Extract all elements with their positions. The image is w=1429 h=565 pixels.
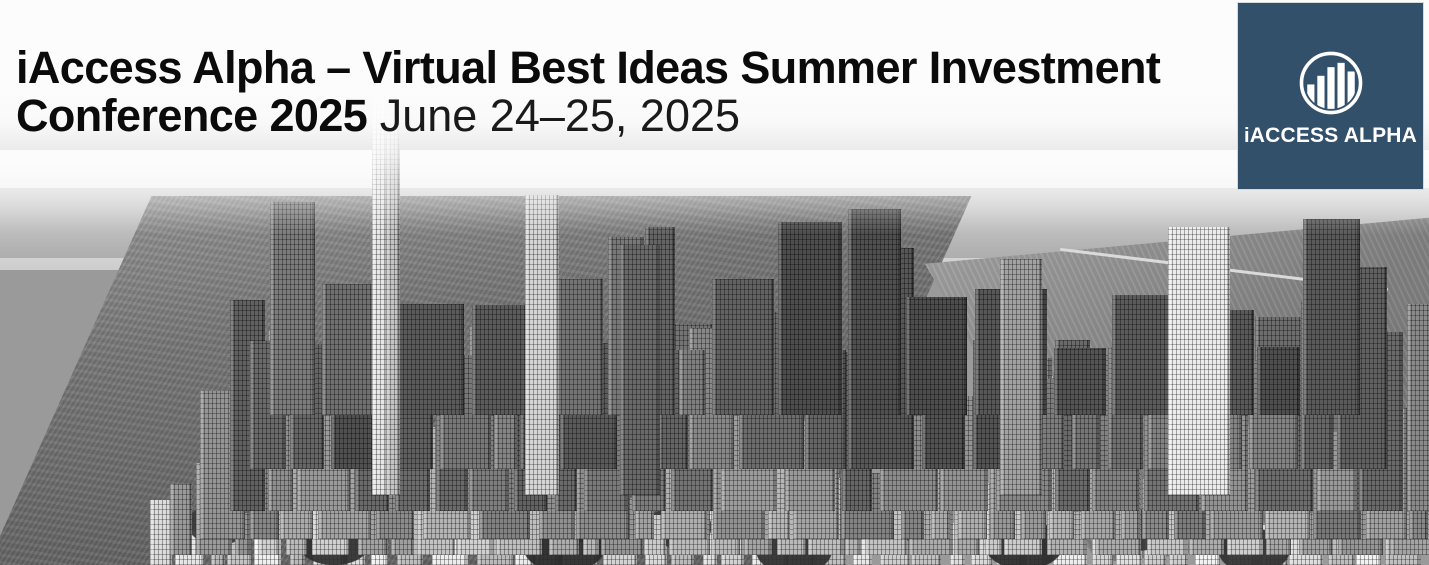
- banner-headline: iAccess Alpha – Virtual Best Ideas Summe…: [16, 44, 1196, 140]
- logo-wordmark: iACCESS ALPHA: [1244, 125, 1417, 146]
- bar-chart-circle-icon: [1295, 47, 1367, 119]
- conference-banner: iAccess Alpha – Virtual Best Ideas Summe…: [0, 0, 1429, 565]
- conference-dates-text: June 24–25, 2025: [380, 90, 740, 141]
- conference-title-part1: iAccess Alpha – Virtual Best Ideas Summe…: [16, 42, 1160, 93]
- conference-dates: June 24–25, 2025: [367, 90, 740, 141]
- headline-line-2: Conference 2025 June 24–25, 2025: [16, 92, 1196, 140]
- iaccess-alpha-logo[interactable]: iACCESS ALPHA: [1237, 2, 1424, 190]
- headline-line-1: iAccess Alpha – Virtual Best Ideas Summe…: [16, 44, 1196, 92]
- city-blocks: [0, 150, 1429, 565]
- logo-wordmark-rest: ACCESS ALPHA: [1250, 124, 1417, 147]
- conference-title-part2: Conference 2025: [16, 90, 367, 141]
